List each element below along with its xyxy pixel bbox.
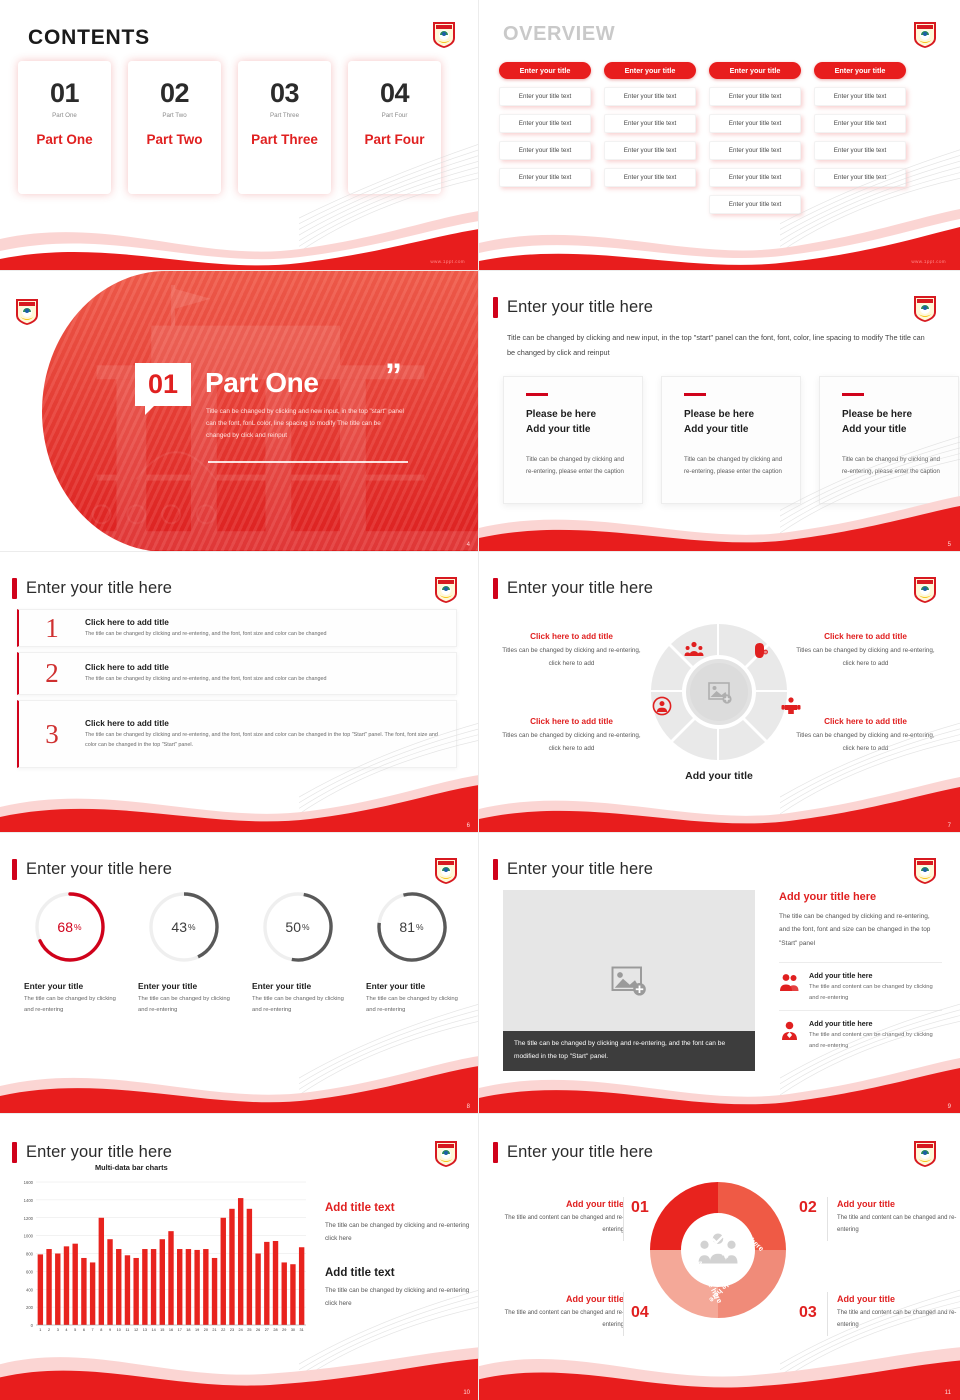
decorative-wave	[0, 207, 479, 271]
slide-image-and-list[interactable]: Enter your title here The title ca	[479, 833, 960, 1114]
person-arms-icon	[781, 696, 801, 716]
info-card[interactable]: Please be here Add your title Title can …	[503, 376, 643, 504]
svg-text:6: 6	[83, 1328, 85, 1332]
percent-value: 50%	[259, 888, 337, 966]
divider	[827, 1292, 828, 1336]
overview-item[interactable]: Enter your title text	[604, 87, 696, 106]
title-accent-bar	[493, 1142, 498, 1163]
title-text: Enter your title here	[26, 1143, 172, 1162]
svg-text:1: 1	[39, 1328, 41, 1332]
svg-text:1000: 1000	[24, 1234, 34, 1239]
title-accent-bar	[12, 1142, 17, 1163]
page-number: 9	[948, 1104, 951, 1110]
percent-item[interactable]: 43% Enter your title The title can be ch…	[132, 888, 235, 1017]
segmented-wheel-diagram	[645, 618, 793, 766]
university-emblem-logo	[912, 1139, 938, 1167]
percent-unit: %	[188, 922, 196, 932]
slide-wheel-four[interactable]: Enter your title here Click here to add …	[479, 552, 960, 833]
page-number: 8	[467, 1104, 470, 1110]
svg-text:26: 26	[256, 1328, 260, 1332]
decorative-wave	[0, 1336, 479, 1400]
card-part-label: Part One	[18, 132, 111, 147]
card-part-label: Part Three	[238, 132, 331, 147]
svg-text:2: 2	[48, 1328, 50, 1332]
card-subtitle: Part Four	[348, 112, 441, 119]
section-number-chip: 01	[135, 363, 191, 406]
svg-text:10: 10	[117, 1328, 121, 1332]
svg-text:13: 13	[143, 1328, 147, 1332]
contents-card[interactable]: 04 Part Four Part Four	[348, 61, 441, 194]
ring-title: Enter your title	[132, 981, 235, 991]
title-accent-bar	[12, 578, 17, 599]
bar-chart: 0200400600800100012001400160012345678910…	[10, 1176, 310, 1341]
card-body: Title can be changed by clicking and re-…	[526, 454, 624, 478]
svg-text:1600: 1600	[24, 1180, 34, 1185]
single-person-icon	[779, 1020, 800, 1041]
slide-preview-grid: CONTENTS 01 Part One Part One 02 Part Tw…	[0, 0, 960, 1400]
percent-number: 50	[285, 919, 301, 935]
section-heading: Part One	[205, 367, 319, 399]
wheel-item-top-left[interactable]: Click here to add title Titles can be ch…	[501, 632, 642, 670]
svg-text:18: 18	[186, 1328, 190, 1332]
university-emblem-logo	[912, 575, 938, 603]
overview-item[interactable]: Enter your title text	[604, 114, 696, 133]
card-row: Please be here Add your title Title can …	[503, 376, 959, 504]
wheel-item-top-right[interactable]: Click here to add title Titles can be ch…	[795, 632, 936, 670]
block-body-2: The title can be changed by clicking and…	[325, 1285, 470, 1310]
divider	[623, 1197, 624, 1241]
list-item-body: The title and content can be changed by …	[809, 1030, 942, 1051]
column-title-pill[interactable]: Enter your title	[499, 62, 591, 79]
list-number: 2	[19, 660, 85, 687]
overview-item[interactable]: Enter your title text	[814, 87, 906, 106]
card-body: Title can be changed by clicking and re-…	[684, 454, 782, 478]
list-item-body: The title can be changed by clicking and…	[85, 731, 444, 750]
svg-text:0: 0	[31, 1323, 34, 1328]
item-body: The title and content can be changed and…	[837, 1213, 960, 1236]
list-item-title: Add your title here	[809, 971, 942, 980]
overview-item[interactable]: Enter your title text	[814, 168, 906, 187]
page-title: OVERVIEW	[503, 23, 615, 46]
decorative-wave	[0, 769, 479, 833]
percent-item[interactable]: 68% Enter your title The title can be ch…	[18, 888, 121, 1017]
overview-item[interactable]: Enter your title text	[709, 141, 801, 160]
chart-title: Multi-data bar charts	[95, 1163, 168, 1172]
item-title: Click here to add title	[795, 632, 936, 641]
chart-side-text: Add title text The title can be changed …	[325, 1202, 470, 1310]
percent-item[interactable]: 50% Enter your title The title can be ch…	[246, 888, 349, 1017]
list-item[interactable]: 2 Click here to add title The title can …	[17, 652, 457, 695]
card-number: 03	[238, 80, 331, 107]
section-body-text: Title can be changed by clicking and new…	[206, 406, 406, 442]
overview-item[interactable]: Enter your title text	[709, 195, 801, 214]
list-item-body: The title and content can be changed by …	[809, 982, 942, 1003]
overview-item[interactable]: Enter your title text	[499, 114, 591, 133]
card-subtitle: Part One	[18, 112, 111, 119]
card-number: 01	[18, 80, 111, 107]
page-title: Enter your title here	[493, 578, 653, 599]
percent-value: 68%	[31, 888, 109, 966]
decorative-wave	[479, 1336, 960, 1400]
svg-text:9: 9	[109, 1328, 111, 1332]
decorative-wave	[0, 1050, 479, 1114]
svg-text:200: 200	[26, 1305, 34, 1310]
svg-text:22: 22	[221, 1328, 225, 1332]
card-title-line2: Add your title	[684, 422, 782, 437]
svg-text:3: 3	[57, 1328, 59, 1332]
page-number: 4	[467, 542, 470, 548]
svg-text:12: 12	[134, 1328, 138, 1332]
list-number: 3	[19, 721, 85, 748]
item-body: Titles can be changed by clicking and re…	[795, 730, 936, 755]
list-item-title: Click here to add title	[85, 617, 444, 627]
svg-text:30: 30	[291, 1328, 295, 1332]
slide-numbered-list[interactable]: Enter your title here 1 Click here to ad…	[0, 552, 479, 833]
cycle-item-01[interactable]: Add your title The title and content can…	[501, 1199, 624, 1236]
overview-item[interactable]: Enter your title text	[499, 141, 591, 160]
percent-number: 68	[57, 919, 73, 935]
svg-text:8: 8	[100, 1328, 102, 1332]
title-text: Enter your title here	[26, 579, 172, 598]
card-title-line2: Add your title	[842, 422, 940, 437]
page-title: Enter your title here	[12, 859, 172, 880]
svg-text:21: 21	[212, 1328, 216, 1332]
ring-title: Enter your title	[246, 981, 349, 991]
svg-text:800: 800	[26, 1252, 34, 1257]
percent-unit: %	[416, 922, 424, 932]
title-text: Enter your title here	[507, 1143, 653, 1162]
title-text: Enter your title here	[507, 579, 653, 598]
cycle-number-02: 02	[799, 1199, 817, 1217]
block-body-1: The title can be changed by clicking and…	[325, 1220, 470, 1245]
divider	[827, 1197, 828, 1241]
page-number: 7	[948, 823, 951, 829]
title-accent-bar	[493, 578, 498, 599]
item-body: The title and content can be changed and…	[501, 1213, 624, 1236]
contents-card[interactable]: 01 Part One Part One	[18, 61, 111, 194]
university-emblem-logo	[433, 856, 459, 884]
decorative-wave	[479, 207, 960, 271]
page-title: CONTENTS	[28, 26, 150, 50]
slide-overview[interactable]: OVERVIEW Enter your title Enter your tit…	[479, 0, 960, 271]
title-accent-bar	[493, 297, 498, 318]
person-circle-icon	[652, 696, 672, 716]
two-people-icon	[779, 972, 800, 993]
card-accent-tick	[684, 393, 706, 396]
slide-percent-rings[interactable]: Enter your title here	[0, 833, 479, 1114]
slide-cycle-four[interactable]: Enter your title here Add your title The…	[479, 1114, 960, 1400]
svg-text:1400: 1400	[24, 1198, 34, 1203]
contents-card[interactable]: 03 Part Three Part Three	[238, 61, 331, 194]
card-number: 02	[128, 80, 221, 107]
cycle-item-02[interactable]: Add your title The title and content can…	[837, 1199, 960, 1236]
image-caption: The title can be changed by clicking and…	[503, 1031, 755, 1071]
item-title: Add your title	[837, 1294, 960, 1304]
overview-item[interactable]: Enter your title text	[709, 114, 801, 133]
university-emblem-logo	[433, 1139, 459, 1167]
svg-text:14: 14	[151, 1328, 155, 1332]
section-number: 01	[135, 363, 191, 406]
card-title-line2: Add your title	[526, 422, 624, 437]
svg-text:17: 17	[178, 1328, 182, 1332]
item-title: Add your title	[501, 1294, 624, 1304]
column-title-pill[interactable]: Enter your title	[604, 62, 696, 79]
image-placeholder-icon	[611, 966, 647, 996]
list-item[interactable]: 3 Click here to add title The title can …	[17, 700, 457, 768]
block-title-1: Add title text	[325, 1202, 470, 1214]
contents-card[interactable]: 02 Part Two Part Two	[128, 61, 221, 194]
svg-text:31: 31	[300, 1328, 304, 1332]
page-title: Enter your title here	[12, 1142, 172, 1163]
overview-item[interactable]: Enter your title text	[499, 87, 591, 106]
page-title: Enter your title here	[493, 859, 653, 880]
card-title: Please be here Add your title	[684, 407, 782, 437]
slide-contents[interactable]: CONTENTS 01 Part One Part One 02 Part Tw…	[0, 0, 479, 271]
item-body: The title and content can be changed and…	[837, 1308, 960, 1331]
overview-item[interactable]: Enter your title text	[604, 141, 696, 160]
ring-body: The title can be changed by clicking and…	[246, 994, 349, 1017]
slide-part-one-divider[interactable]: 01 Part One ” Title can be changed by cl…	[0, 271, 479, 552]
title-accent-bar	[493, 859, 498, 880]
overview-columns: Enter your title Enter your title text E…	[499, 62, 906, 214]
contents-card-row: 01 Part One Part One 02 Part Two Part Tw…	[18, 61, 441, 194]
list-item-title: Add your title here	[809, 1019, 942, 1028]
title-text: Enter your title here	[507, 860, 653, 879]
info-card[interactable]: Please be here Add your title Title can …	[819, 376, 959, 504]
percent-number: 81	[399, 919, 415, 935]
card-part-label: Part Four	[348, 132, 441, 147]
overview-column: Enter your title Enter your title text E…	[499, 62, 591, 214]
donut-ring: 50%	[259, 888, 337, 966]
card-title: Please be here Add your title	[526, 407, 624, 437]
overview-item[interactable]: Enter your title text	[814, 141, 906, 160]
title-accent-bar	[12, 859, 17, 880]
divider-rule	[208, 461, 408, 463]
list-item[interactable]: Add your title here The title and conten…	[779, 1010, 942, 1058]
svg-text:11: 11	[125, 1328, 129, 1332]
university-emblem-logo	[433, 575, 459, 603]
card-subtitle: Part Two	[128, 112, 221, 119]
list-item-body: The title can be changed by clicking and…	[85, 675, 444, 684]
item-title: Click here to add title	[501, 632, 642, 641]
svg-text:400: 400	[26, 1287, 34, 1292]
item-body: The title and content can be changed and…	[501, 1308, 624, 1331]
cycle-number-03: 03	[799, 1304, 817, 1322]
person-headset-icon	[749, 640, 769, 660]
divider	[623, 1292, 624, 1336]
wheel-item-bottom-right[interactable]: Click here to add title Titles can be ch…	[795, 717, 936, 755]
card-number: 04	[348, 80, 441, 107]
list-number: 1	[19, 615, 85, 642]
page-title: Enter your title here	[493, 297, 653, 318]
item-body: Titles can be changed by clicking and re…	[501, 730, 642, 755]
list-item-body: The title can be changed by clicking and…	[85, 630, 444, 639]
ring-body: The title can be changed by clicking and…	[360, 994, 463, 1017]
watermark: www.1ppt.com	[430, 259, 465, 264]
svg-text:28: 28	[273, 1328, 277, 1332]
donut-ring: 43%	[145, 888, 223, 966]
card-accent-tick	[842, 393, 864, 396]
overview-item[interactable]: Enter your title text	[709, 87, 801, 106]
percent-number: 43	[171, 919, 187, 935]
svg-text:7: 7	[92, 1328, 94, 1332]
percent-item[interactable]: 81% Enter your title The title can be ch…	[360, 888, 463, 1017]
card-accent-tick	[526, 393, 548, 396]
overview-item[interactable]: Enter your title text	[709, 168, 801, 187]
page-number: 11	[945, 1390, 951, 1396]
card-subtitle: Part Three	[238, 112, 331, 119]
overview-column: Enter your title Enter your title text E…	[814, 62, 906, 214]
list-item-title: Click here to add title	[85, 718, 444, 728]
list-item-title: Click here to add title	[85, 662, 444, 672]
wheel-item-bottom-left[interactable]: Click here to add title Titles can be ch…	[501, 717, 642, 755]
university-emblem-logo	[912, 20, 938, 48]
item-title: Click here to add title	[501, 717, 642, 726]
panel-body: The title can be changed by clicking and…	[779, 910, 942, 950]
page-title: Enter your title here	[493, 1142, 653, 1163]
overview-column: Enter your title Enter your title text E…	[709, 62, 801, 214]
watermark: www.1ppt.com	[911, 259, 946, 264]
list-item[interactable]: Add your title here The title and conten…	[779, 962, 942, 1010]
svg-text:25: 25	[247, 1328, 251, 1332]
lead-paragraph: Title can be changed by clicking and new…	[507, 331, 927, 361]
page-number: 10	[463, 1390, 470, 1396]
overview-item[interactable]: Enter your title text	[499, 168, 591, 187]
overview-item[interactable]: Enter your title text	[814, 114, 906, 133]
ring-title: Enter your title	[18, 981, 121, 991]
card-title-line1: Please be here	[684, 407, 782, 422]
svg-text:5: 5	[74, 1328, 76, 1332]
percent-value: 81%	[373, 888, 451, 966]
page-number: 5	[948, 542, 951, 548]
cycle-item-03[interactable]: Add your title The title and content can…	[837, 1294, 960, 1331]
university-emblem-logo	[912, 294, 938, 322]
page-title: Enter your title here	[12, 578, 172, 599]
svg-text:600: 600	[26, 1269, 34, 1274]
ring-body: The title can be changed by clicking and…	[132, 994, 235, 1017]
percent-unit: %	[302, 922, 310, 932]
ring-row: 68% Enter your title The title can be ch…	[18, 888, 463, 1017]
column-title-pill[interactable]: Enter your title	[814, 62, 906, 79]
svg-text:20: 20	[204, 1328, 208, 1332]
card-part-label: Part Two	[128, 132, 221, 147]
svg-text:19: 19	[195, 1328, 199, 1332]
overview-item[interactable]: Enter your title text	[604, 168, 696, 187]
right-panel: Add your title here The title can be cha…	[779, 891, 942, 1059]
block-title-2: Add title text	[325, 1267, 470, 1279]
column-title-pill[interactable]: Enter your title	[709, 62, 801, 79]
slide-three-cards[interactable]: Enter your title here Title can be chang…	[479, 271, 960, 552]
svg-text:15: 15	[160, 1328, 164, 1332]
info-card[interactable]: Please be here Add your title Title can …	[661, 376, 801, 504]
university-emblem-logo	[912, 856, 938, 884]
ring-body: The title can be changed by clicking and…	[18, 994, 121, 1017]
item-title: Click here to add title	[795, 717, 936, 726]
university-emblem-logo	[431, 20, 457, 48]
svg-text:24: 24	[239, 1328, 243, 1332]
donut-ring: 81%	[373, 888, 451, 966]
university-emblem-logo	[14, 297, 40, 325]
cycle-diagram: Add title here Add title here Add title …	[644, 1176, 792, 1324]
svg-text:23: 23	[230, 1328, 234, 1332]
percent-unit: %	[74, 922, 82, 932]
svg-text:1200: 1200	[24, 1216, 34, 1221]
cycle-item-04[interactable]: Add your title The title and content can…	[501, 1294, 624, 1331]
panel-title: Add your title here	[779, 891, 942, 903]
card-title: Please be here Add your title	[842, 407, 940, 437]
svg-text:4: 4	[65, 1328, 67, 1332]
donut-ring: 68%	[31, 888, 109, 966]
percent-value: 43%	[145, 888, 223, 966]
page-number: 6	[467, 823, 470, 829]
svg-text:27: 27	[265, 1328, 269, 1332]
slide-bar-chart[interactable]: Enter your title here Multi-data bar cha…	[0, 1114, 479, 1400]
item-body: Titles can be changed by clicking and re…	[795, 645, 936, 670]
numbered-list: 1 Click here to add title The title can …	[17, 609, 457, 768]
card-title-line1: Please be here	[842, 407, 940, 422]
title-text: Enter your title here	[507, 298, 653, 317]
item-title: Add your title	[837, 1199, 960, 1209]
list-item[interactable]: 1 Click here to add title The title can …	[17, 609, 457, 647]
wheel-caption: Add your title	[645, 770, 793, 782]
title-text: Enter your title here	[26, 860, 172, 879]
quote-glyph-icon: ”	[385, 363, 402, 390]
group-people-icon	[684, 640, 704, 660]
card-title-line1: Please be here	[526, 407, 624, 422]
item-body: Titles can be changed by clicking and re…	[501, 645, 642, 670]
overview-column: Enter your title Enter your title text E…	[604, 62, 696, 214]
item-title: Add your title	[501, 1199, 624, 1209]
svg-text:16: 16	[169, 1328, 173, 1332]
ring-title: Enter your title	[360, 981, 463, 991]
card-body: Title can be changed by clicking and re-…	[842, 454, 940, 478]
svg-text:29: 29	[282, 1328, 286, 1332]
